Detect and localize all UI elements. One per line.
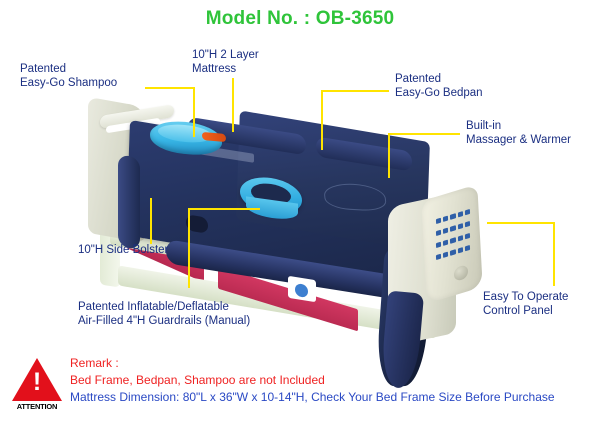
callout-bolster-line1: 10"H Side Bolster [78, 243, 168, 257]
callout-control-panel: Easy To Operate Control Panel [483, 290, 568, 318]
remark-heading: Remark : [70, 356, 119, 370]
leader-line-mattress-v [232, 78, 234, 132]
callout-massager-line1: Built-in [466, 119, 571, 133]
leader-line-bedpan-v [321, 90, 323, 150]
callout-mattress: 10"H 2 Layer Mattress [192, 48, 259, 76]
callout-control-panel-line1: Easy To Operate [483, 290, 568, 304]
leader-line-panel-h [487, 222, 555, 224]
attention-icon: ATTENTION [8, 358, 66, 416]
callout-massager-line2: Massager & Warmer [466, 133, 571, 147]
product-diagram-page: Model No. : OB-3650 [0, 0, 600, 424]
leader-line-guardrails-h [188, 208, 260, 210]
callout-shampoo-line2: Easy-Go Shampoo [20, 76, 117, 90]
leader-line-bolster-v [150, 198, 152, 244]
leader-line-guardrails-v [188, 208, 190, 288]
leader-line-massager-h [388, 133, 460, 135]
callout-shampoo: Patented Easy-Go Shampoo [20, 62, 117, 90]
warning-triangle-icon [12, 358, 62, 401]
remark-not-included: Bed Frame, Bedpan, Shampoo are not Inclu… [70, 373, 325, 387]
callout-bedpan-line2: Easy-Go Bedpan [395, 86, 483, 100]
remark-dimensions: Mattress Dimension: 80"L x 36"W x 10-14"… [70, 390, 555, 404]
leader-line-shampoo-h [145, 87, 195, 89]
leader-line-shampoo-v [193, 87, 195, 137]
callout-mattress-line1: 10"H 2 Layer [192, 48, 259, 62]
callout-massager: Built-in Massager & Warmer [466, 119, 571, 147]
leader-line-panel-v [553, 222, 555, 286]
callout-shampoo-line1: Patented [20, 62, 117, 76]
attention-label: ATTENTION [8, 402, 66, 411]
callout-control-panel-line2: Control Panel [483, 304, 568, 318]
leader-line-massager-v [388, 133, 390, 178]
callout-guardrails: Patented Inflatable/Deflatable Air-Fille… [78, 300, 250, 328]
callout-guardrails-line1: Patented Inflatable/Deflatable [78, 300, 250, 314]
remark-block: ATTENTION Remark : Bed Frame, Bedpan, Sh… [0, 352, 600, 424]
page-title: Model No. : OB-3650 [0, 8, 600, 30]
callout-bedpan: Patented Easy-Go Bedpan [395, 72, 483, 100]
callout-bedpan-line1: Patented [395, 72, 483, 86]
callout-guardrails-line2: Air-Filled 4"H Guardrails (Manual) [78, 314, 250, 328]
side-bolster-left [118, 154, 140, 249]
control-panel-housing[interactable] [421, 184, 482, 303]
leader-line-bedpan-h [321, 90, 389, 92]
callout-bolster: 10"H Side Bolster [78, 243, 168, 257]
callout-mattress-line2: Mattress [192, 62, 259, 76]
